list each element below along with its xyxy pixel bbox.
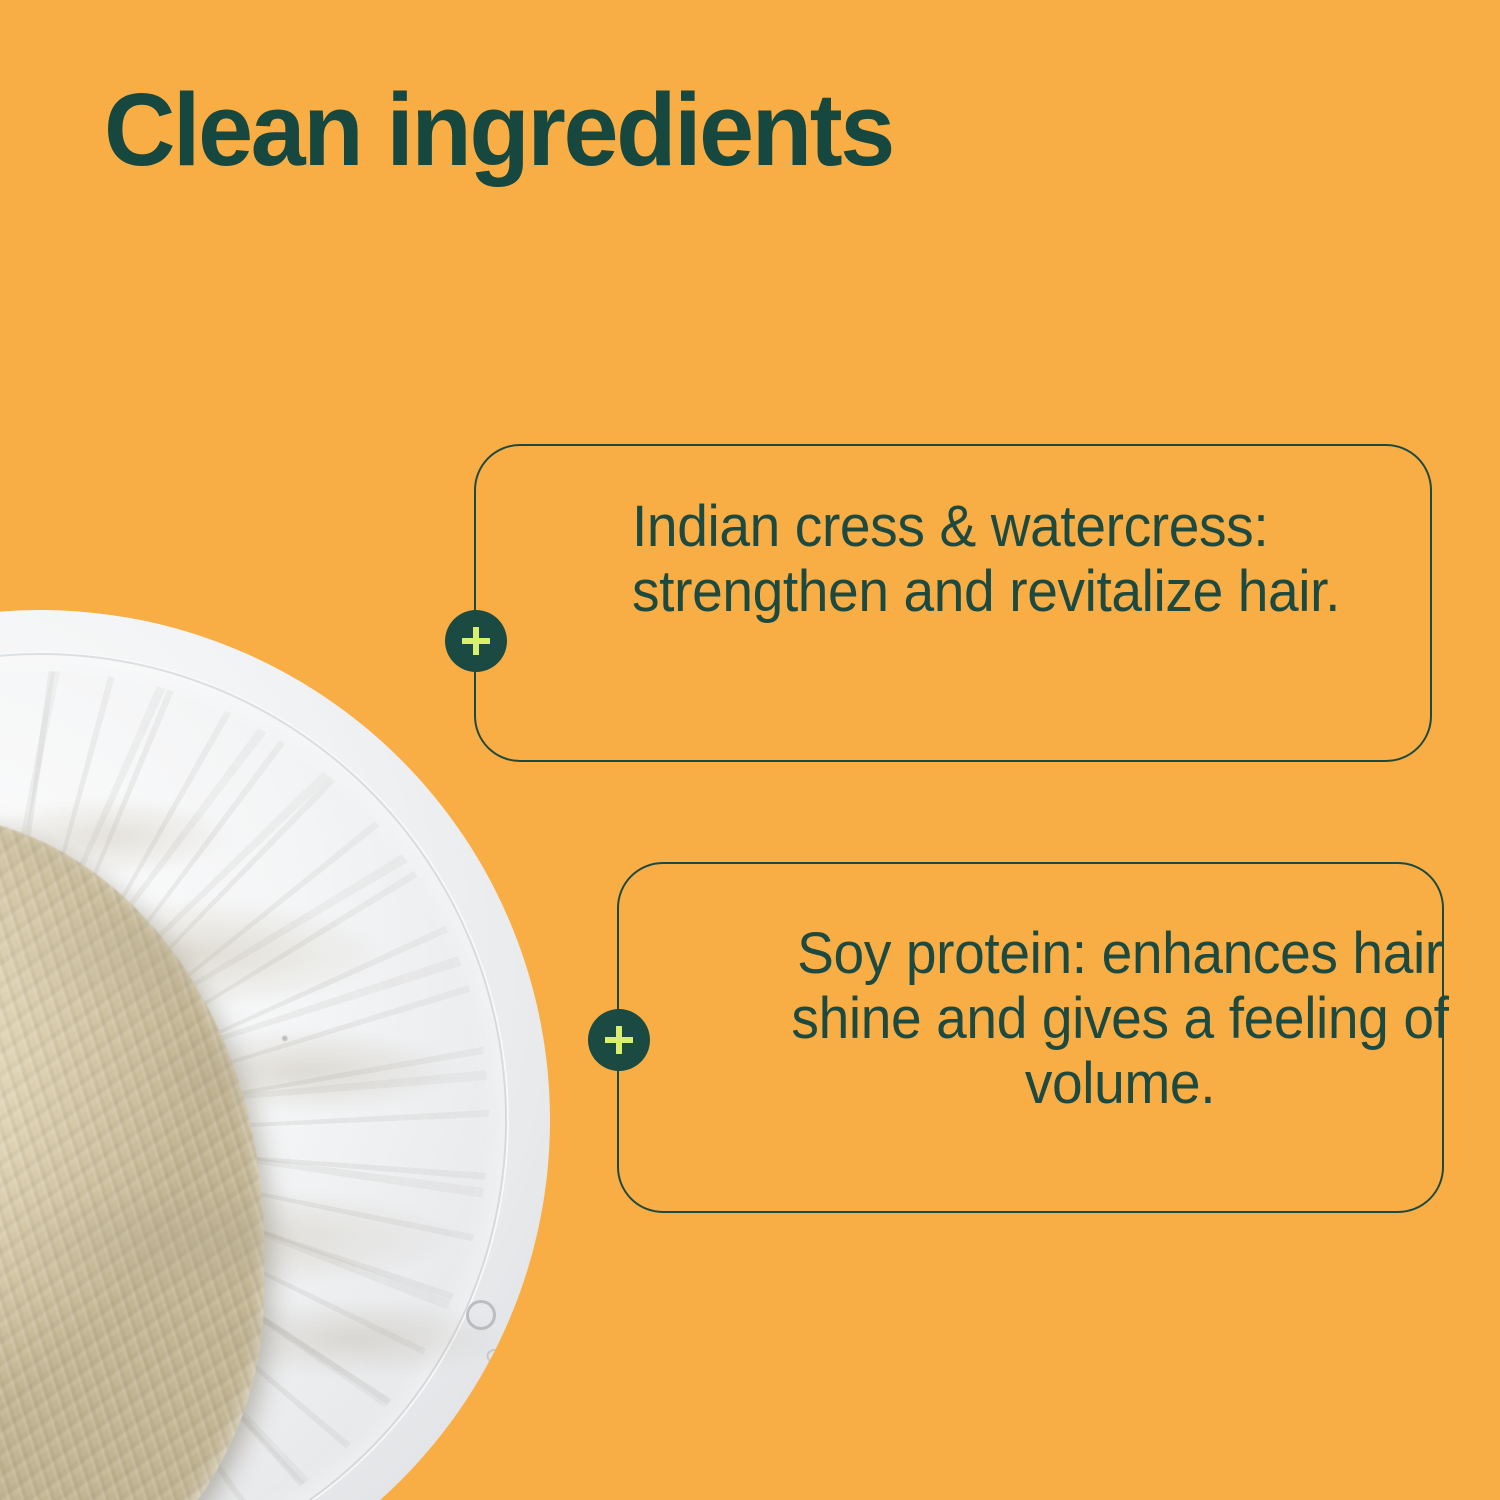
callout-card-indian-cress: Indian cress & watercress: strengthen an… xyxy=(474,444,1432,762)
petri-dish-mould-mark xyxy=(466,1300,496,1330)
petri-dish-glass xyxy=(0,610,550,1500)
plus-icon xyxy=(445,610,507,672)
callout-text-soy-protein: Soy protein: enhances hair shine and giv… xyxy=(773,921,1467,1116)
callout-card-soy-protein: Soy protein: enhances hair shine and giv… xyxy=(617,862,1444,1213)
plus-icon xyxy=(588,1009,650,1071)
powder-spray xyxy=(0,753,530,1500)
page-title: Clean ingredients xyxy=(104,78,893,181)
callout-text-indian-cress: Indian cress & watercress: strengthen an… xyxy=(632,494,1411,624)
promo-canvas: Clean ingredients Indian cress & watercr… xyxy=(0,0,1500,1500)
